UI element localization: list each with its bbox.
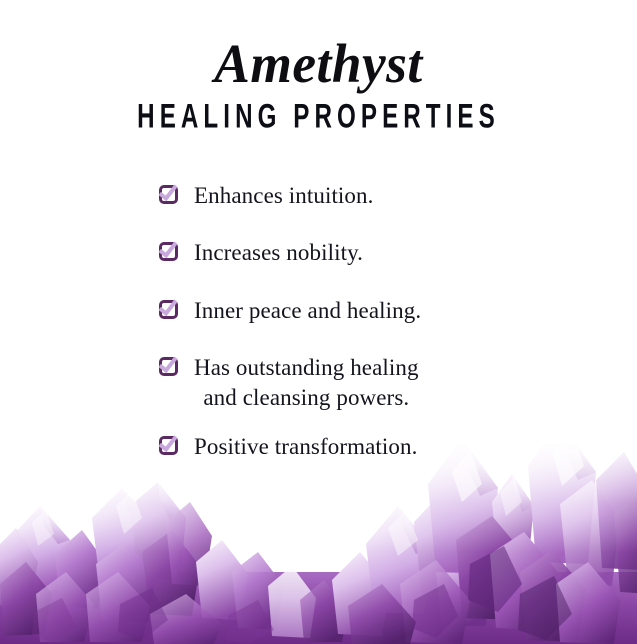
checkbox-checked-icon: [159, 356, 182, 379]
list-item: Enhances intuition.: [0, 181, 637, 210]
list-item-label: Positive transformation.: [194, 432, 417, 461]
healing-properties-list: Enhances intuition. Increases nobility. …: [0, 181, 637, 462]
list-item: Has outstanding healing and cleansing po…: [0, 353, 637, 412]
checkbox-checked-icon: [159, 435, 182, 458]
page-title: Amethyst: [10, 0, 628, 93]
list-item-label: Enhances intuition.: [194, 181, 373, 210]
poster-header: Amethyst HEALING PROPERTIES: [0, 0, 637, 131]
amethyst-poster: Amethyst HEALING PROPERTIES Enhances int…: [0, 0, 637, 644]
checkbox-checked-icon: [159, 184, 182, 207]
checkbox-checked-icon: [159, 241, 182, 264]
list-item-label: Inner peace and healing.: [194, 296, 421, 325]
list-item: Inner peace and healing.: [0, 296, 637, 325]
list-item-label: Increases nobility.: [194, 238, 363, 267]
amethyst-crystal-cluster-image: [0, 444, 637, 644]
list-item-label: Has outstanding healing and cleansing po…: [194, 353, 419, 412]
list-item: Positive transformation.: [0, 432, 637, 461]
list-item: Increases nobility.: [0, 238, 637, 267]
page-subtitle: HEALING PROPERTIES: [70, 91, 567, 133]
checkbox-checked-icon: [159, 299, 182, 322]
